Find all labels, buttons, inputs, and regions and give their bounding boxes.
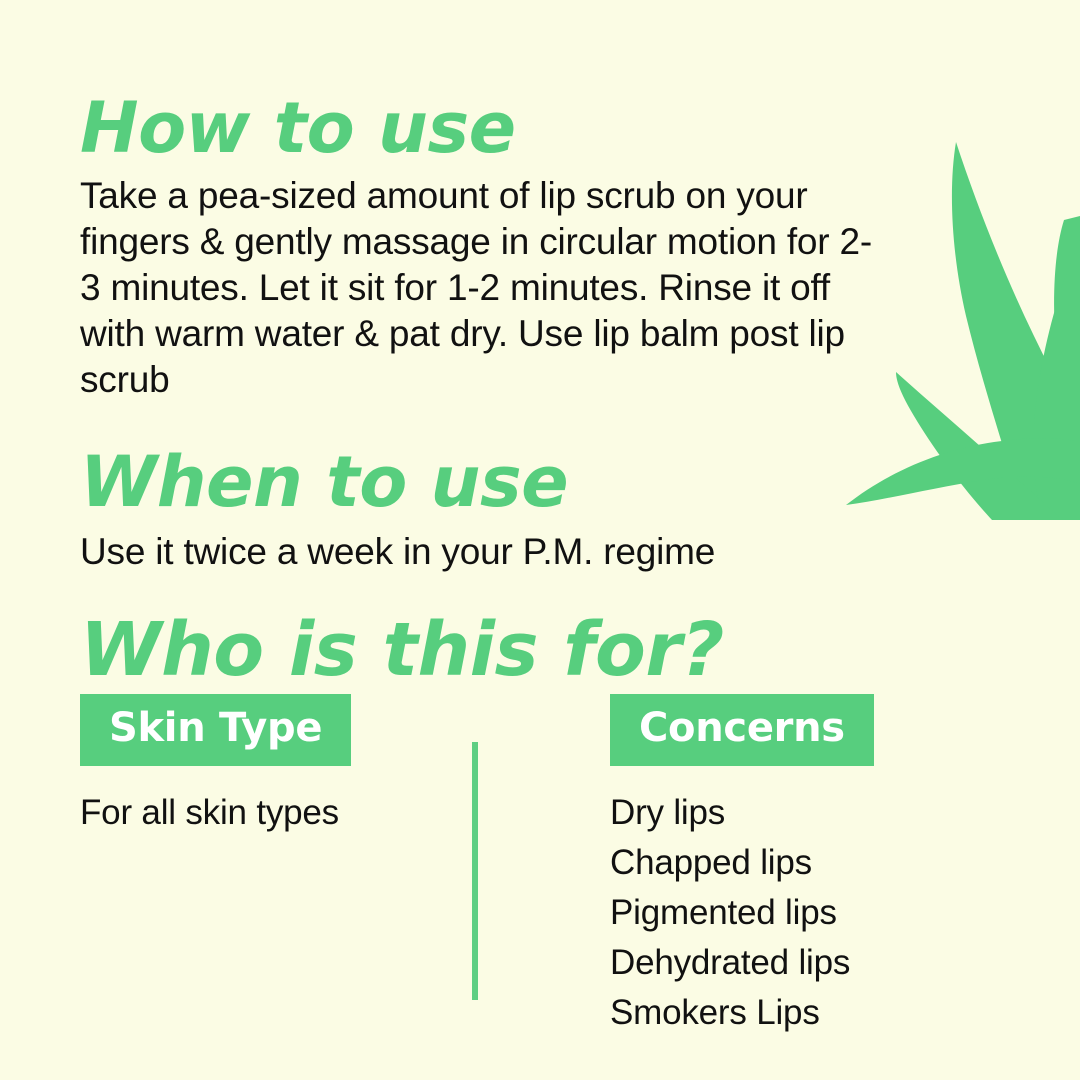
badge-skin-type: Skin Type	[80, 694, 351, 766]
audience-columns: Skin Type For all skin types Concerns Dr…	[0, 694, 1080, 1054]
list-item: For all skin types	[80, 788, 440, 838]
poster-canvas: How to use Take a pea-sized amount of li…	[0, 0, 1080, 1080]
concerns-list: Dry lips Chapped lips Pigmented lips Deh…	[610, 788, 1010, 1038]
list-item: Dehydrated lips	[610, 938, 1010, 988]
badge-concerns: Concerns	[610, 694, 874, 766]
how-to-use-body-text: Take a pea-sized amount of lip scrub on …	[80, 173, 880, 403]
heading-how-to-use: How to use	[80, 93, 516, 163]
column-skin-type: Skin Type For all skin types	[80, 694, 440, 766]
heading-who-is-this-for: Who is this for?	[80, 613, 724, 687]
skin-type-list: For all skin types	[80, 788, 440, 838]
list-item: Smokers Lips	[610, 988, 1010, 1038]
when-to-use-body-text: Use it twice a week in your P.M. regime	[80, 529, 880, 575]
list-item: Pigmented lips	[610, 888, 1010, 938]
heading-when-to-use: When to use	[80, 447, 568, 517]
list-item: Dry lips	[610, 788, 1010, 838]
column-divider	[472, 742, 478, 1000]
column-concerns: Concerns Dry lips Chapped lips Pigmented…	[610, 694, 1010, 766]
list-item: Chapped lips	[610, 838, 1010, 888]
